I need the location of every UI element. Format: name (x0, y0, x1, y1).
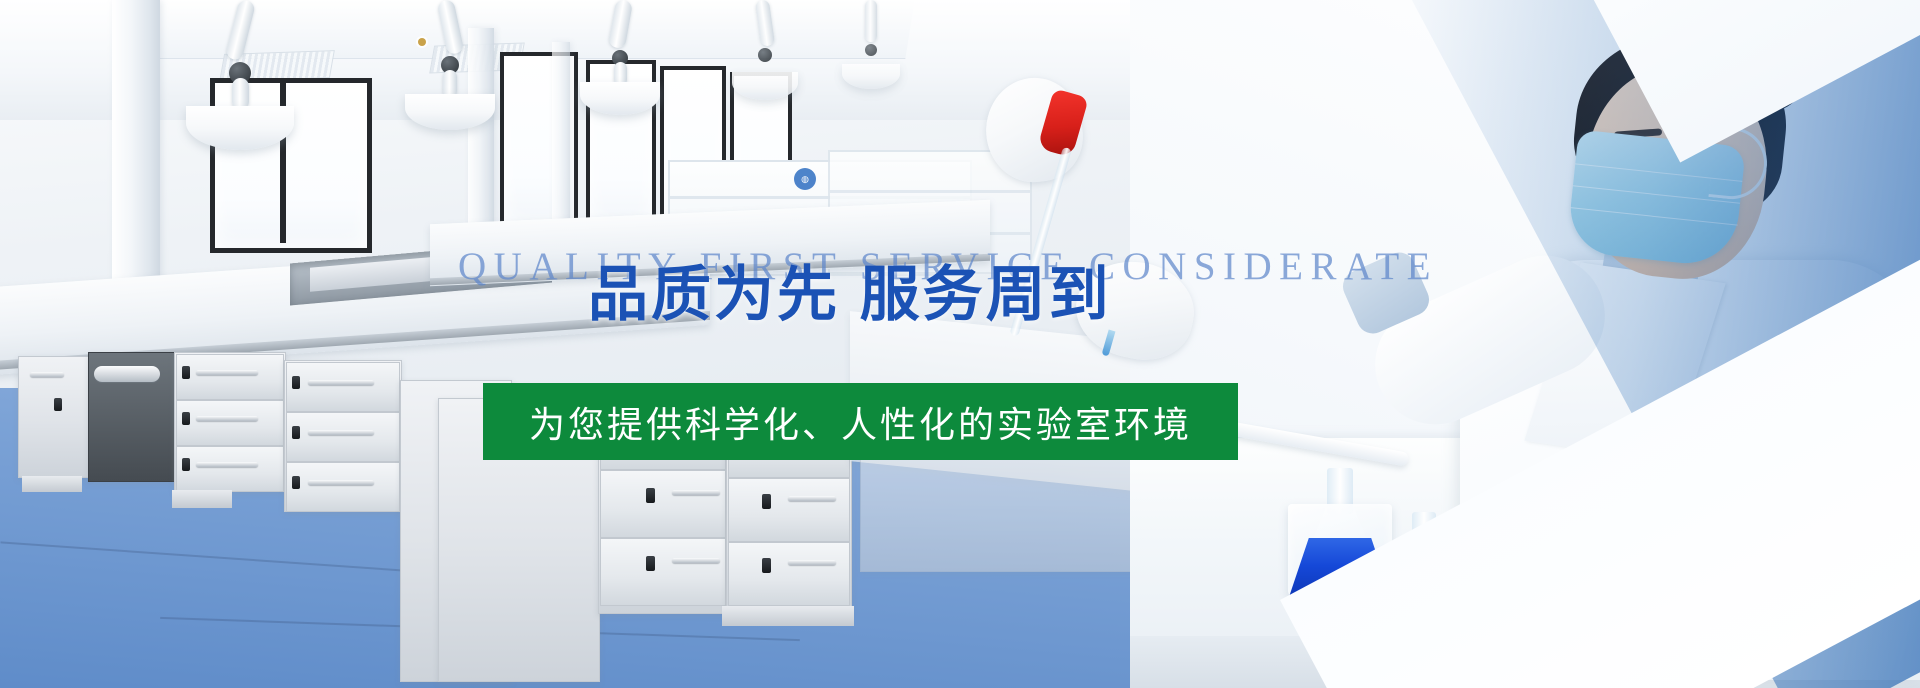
extractor-arm (848, 0, 894, 112)
flask-neck (1484, 498, 1506, 548)
pipette-tip-blue (1777, 562, 1792, 578)
drawer-handle (308, 430, 374, 435)
flask-neck (1412, 512, 1436, 554)
cabinet-lock-icon (182, 412, 190, 425)
extractor-tube (224, 0, 255, 61)
dome-lamp-icon (842, 64, 900, 89)
pipette-tip-pink (1723, 553, 1738, 569)
cabinet-lock-icon (182, 458, 190, 471)
drawer-handle (788, 560, 836, 565)
drawer-handle (308, 380, 374, 385)
drawer (176, 400, 284, 446)
pipette-tip-blue (1741, 556, 1756, 572)
extractor-arm (740, 0, 790, 120)
drawer-handle (196, 370, 258, 375)
pipette-tip-pink (1759, 559, 1774, 575)
pipette-tip-blue (1785, 583, 1800, 599)
mask-pleat (1571, 207, 1738, 226)
drawer-handle (788, 496, 836, 501)
cabinet-plinth (22, 476, 82, 492)
extractor-joint-icon (865, 44, 877, 56)
drawer-handle (30, 372, 64, 377)
drawer-handle (94, 366, 160, 382)
dome-lamp-icon (732, 72, 798, 100)
cabinet-lock-icon (182, 366, 190, 379)
drawer (728, 542, 850, 606)
drawer (600, 538, 726, 606)
pipette-tip-pink (1795, 565, 1810, 581)
extractor-arm (205, 0, 275, 150)
subtitle-text: 为您提供科学化、人性化的实验室环境 (529, 396, 1192, 448)
drawer-handle (196, 416, 258, 421)
banner-headline: 品质为先 服务周到 (588, 246, 1112, 333)
cabinet-lock-icon (762, 558, 771, 573)
extractor-arm (420, 0, 480, 140)
extractor-tube (607, 0, 632, 49)
cabinet-lock-icon (292, 476, 300, 489)
extractor-tube (436, 0, 464, 55)
drawer-handle (672, 490, 720, 495)
drawer (728, 478, 850, 542)
extractor-tube (865, 0, 877, 42)
shelf-badge-icon: ◍ (794, 168, 816, 190)
erlenmeyer-flask (1590, 480, 1708, 680)
support-column (552, 42, 570, 238)
pipette-tip-blue (1705, 551, 1720, 567)
extractor-tube (755, 0, 775, 47)
cabinet-lock-icon (292, 426, 300, 439)
cabinet-lock-icon (292, 376, 300, 389)
cabinet-plinth (722, 606, 854, 626)
cabinet-plinth (172, 490, 232, 508)
drawer-handle (196, 462, 258, 467)
shelf-line (830, 190, 1030, 193)
drawer (286, 362, 400, 412)
pipette-tip-pink (1749, 577, 1764, 593)
drawer (176, 446, 284, 492)
drawer (600, 470, 726, 538)
drawer (286, 462, 400, 512)
cabinet-lock-icon (646, 556, 655, 571)
extractor-arm (592, 0, 648, 130)
window-mullion (280, 78, 286, 243)
drawer (286, 412, 400, 462)
support-column (112, 0, 160, 300)
flask-liquid-pink (1590, 564, 1708, 680)
drawer-handle (672, 558, 720, 563)
pipette-tip-blue (1713, 571, 1728, 587)
extractor-joint-icon (758, 48, 772, 62)
drawer-handle (308, 480, 374, 485)
erlenmeyer-flask (1452, 498, 1538, 620)
cabinet-lock-icon (762, 494, 771, 509)
flask-neck (1633, 480, 1665, 542)
drawer (176, 354, 284, 400)
cabinet-lock-icon (646, 488, 655, 503)
cabinet-lock-icon (54, 398, 62, 411)
flask-body (1590, 542, 1708, 680)
banner-root: ◍ (0, 0, 1920, 688)
subtitle-banner: 为您提供科学化、人性化的实验室环境 (483, 383, 1238, 460)
